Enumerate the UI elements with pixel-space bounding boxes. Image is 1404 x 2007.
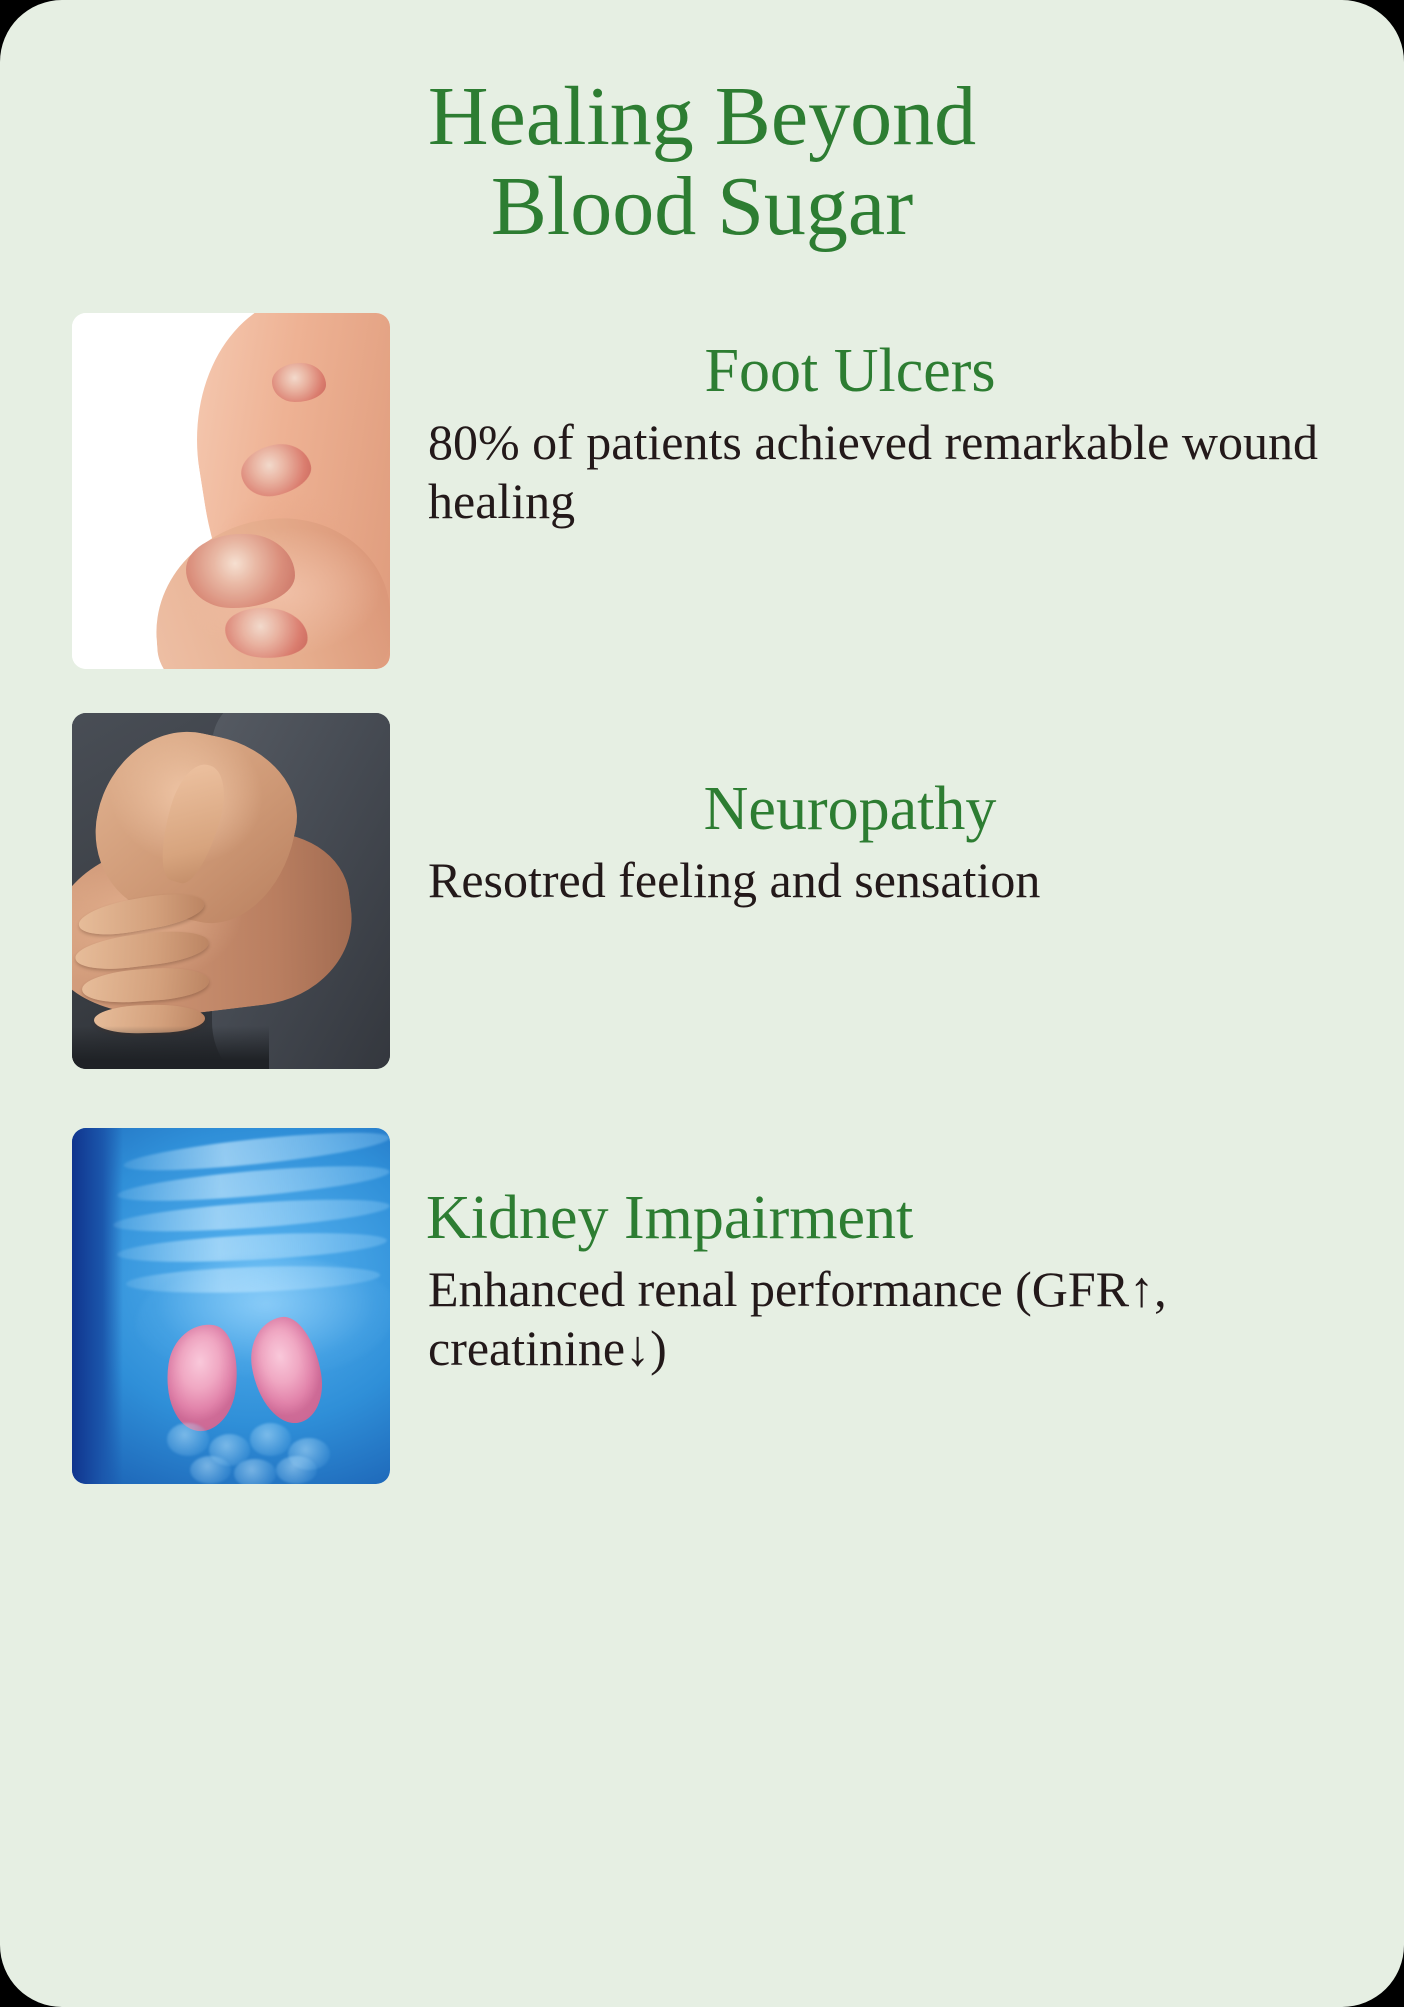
page-title-line-1: Healing Beyond: [0, 72, 1404, 162]
page-title: Healing Beyond Blood Sugar: [0, 72, 1404, 252]
intestine-shape: [276, 1456, 317, 1484]
section-heading-neuropathy: Neuropathy: [420, 777, 1360, 841]
foot-ulcer-image-content: [72, 313, 390, 669]
infographic-card: Healing Beyond Blood Sugar Foot Ulcers 8…: [0, 0, 1404, 2007]
neuropathy-hands-photo: [72, 713, 390, 1069]
neuropathy-image-content: [72, 713, 390, 1069]
foot-ulcer-photo: [72, 313, 390, 669]
section-body-foot-ulcers: 80% of patients achieved remarkable woun…: [420, 413, 1360, 530]
foot-ulcers-text-column: Foot Ulcers 80% of patients achieved rem…: [420, 339, 1360, 530]
kidney-illustration: [72, 1128, 390, 1484]
neuropathy-text-column: Neuropathy Resotred feeling and sensatio…: [420, 777, 1360, 910]
intestine-shape: [167, 1423, 208, 1455]
ulcer-lesion: [272, 363, 326, 402]
section-body-kidney-impairment: Enhanced renal performance (GFR↑, creati…: [420, 1260, 1360, 1377]
kidney-image-content: [72, 1128, 390, 1484]
ulcer-lesion: [186, 534, 294, 609]
intestine-shape: [250, 1423, 291, 1455]
page-title-line-2: Blood Sugar: [0, 162, 1404, 252]
left-edge-gradient: [72, 1128, 123, 1484]
intestine-shape: [234, 1459, 275, 1484]
section-heading-kidney-impairment: Kidney Impairment: [420, 1186, 1360, 1250]
section-heading-foot-ulcers: Foot Ulcers: [420, 339, 1360, 403]
section-kidney-impairment: Kidney Impairment Enhanced renal perform…: [0, 1128, 1404, 1504]
section-body-neuropathy: Resotred feeling and sensation: [420, 851, 1360, 910]
section-neuropathy: Neuropathy Resotred feeling and sensatio…: [0, 713, 1404, 1075]
intestine-shape: [190, 1456, 231, 1484]
section-foot-ulcers: Foot Ulcers 80% of patients achieved rem…: [0, 313, 1404, 675]
kidney-text-column: Kidney Impairment Enhanced renal perform…: [420, 1186, 1360, 1377]
shadow-overlay: [72, 1026, 269, 1069]
